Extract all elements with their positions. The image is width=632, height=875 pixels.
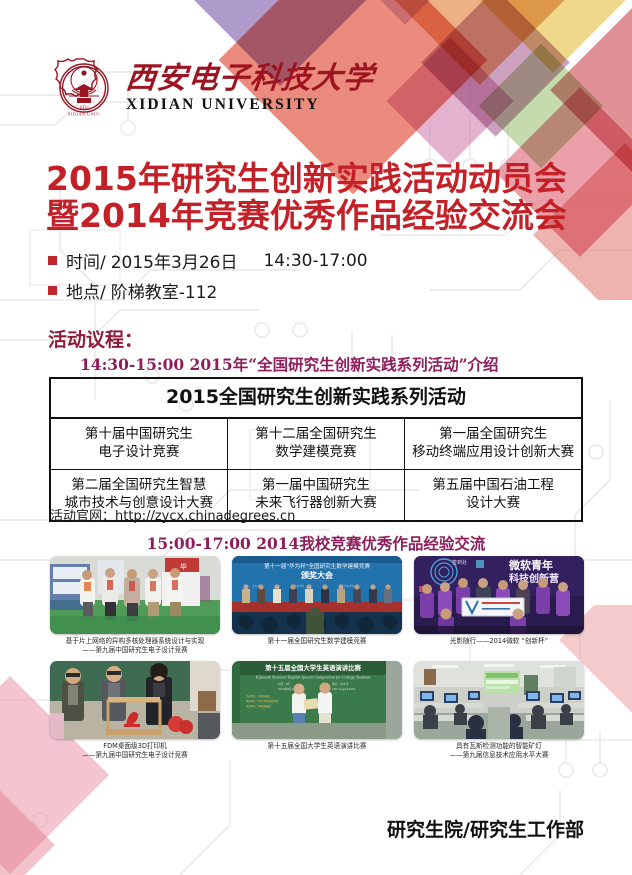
competition-cell: 第五届中国石油工程 设计大赛 [405,470,582,522]
title-line-1: 2015年研究生创新实践活动动员会 [46,160,626,197]
photo-item: 第十五届全国大学生英语演讲比赛 Fifteenth National Engli… [232,661,402,761]
photo-row-1: 毕 [50,556,584,656]
competition-table: 2015全国研究生创新实践系列活动 第十届中国研究生 电子设计竞赛 第十二届全国… [49,377,583,522]
photo-item: 具有瓦斯检测功能的智能矿灯 ——第九届信息技术应用水平大赛 [414,661,584,761]
photo-caption: 第十一届全国研究生数学建模竞赛 [232,637,402,646]
event-time-row: 时间/ 2015年3月26日 14:30-17:00 [48,248,368,273]
university-name-en: XIDIAN UNIVERSITY [126,97,374,113]
agenda-heading: 活动议程： [48,325,143,352]
photo-3d-printer-image[interactable] [50,661,220,739]
photo-electronic-design-image[interactable]: 毕 [50,556,220,634]
event-place-row: 地点/ 阶梯教室-112 [48,278,368,303]
svg-text:XIDIAN UNIV.: XIDIAN UNIV. [67,111,100,116]
bullet-square-icon [48,286,57,295]
svg-text:14th August 2014: 14th August 2014 [332,687,356,691]
photo-microsoft-imagine-cup-image[interactable]: 签到处 微软青年 科技创新营 [414,556,584,634]
svg-text:时间：8月: 时间：8月 [278,682,290,686]
competition-cell: 第十二届全国研究生 数学建模竞赛 [227,418,404,470]
time-label: 时间/ [66,248,106,273]
photo-smart-miner-lamp-image[interactable] [414,661,584,739]
photo-item: 毕 [50,556,220,656]
official-website: 活动官网：http://zycx.chinadegrees.cn [50,505,295,524]
svg-text:科技创新营: 科技创新营 [509,572,559,585]
svg-text:毕: 毕 [180,562,187,571]
svg-text:主办单位：中国日报社: 主办单位：中国日报社 [246,694,271,698]
photo-caption: FDM桌面级3D打印机 ——第九届中国研究生电子设计竞赛 [50,742,220,761]
svg-text:颁奖大会: 颁奖大会 [301,570,333,580]
svg-text:协办单位: 协办单位 [344,584,355,588]
photo-caption: 基于片上网络的异构多核处理器系统设计与实现 ——第九届中国研究生电子设计竞赛 [50,637,220,656]
svg-text:协办单位：XX教育集团: 协办单位：XX教育集团 [246,704,271,708]
svg-text:微软青年: 微软青年 [508,558,553,572]
svg-text:第十一届"华为杯"全国研究生数学建模竞赛: 第十一届"华为杯"全国研究生数学建模竞赛 [264,562,370,570]
poster-canvas: 1931 XIDIAN UNIV. 西安电子科技大学 XIDIAN UNIVER… [0,0,632,875]
poster-title: 2015年研究生创新实践活动动员会 暨2014年竞赛优秀作品经验交流会 [46,160,626,235]
university-logo: 1931 XIDIAN UNIV. 西安电子科技大学 XIDIAN UNIVER… [52,56,374,120]
agenda-item-1: 14:30-15:00 2015年“全国研究生创新实践系列活动”介绍 [80,353,499,375]
table-header-cell: 2015全国研究生创新实践系列活动 [50,378,582,418]
svg-text:承办单位：XX大学外国语学院: 承办单位：XX大学外国语学院 [246,699,279,703]
photo-caption: 光影随行——2014微软 “创新杯” [414,637,584,646]
agenda-item-2: 15:00-17:00 2014我校竞赛优秀作品经验交流 [0,532,632,554]
bullet-square-icon [48,256,57,265]
competition-cell: 第十届中国研究生 电子设计竞赛 [50,418,227,470]
website-url[interactable]: http://zycx.chinadegrees.cn [115,509,295,524]
table-header-row: 2015全国研究生创新实践系列活动 [50,378,582,418]
photo-math-modeling-image[interactable]: 第十一届"华为杯"全国研究生数学建模竞赛 颁奖大会 主办单位承办单位 协办单位 [232,556,402,634]
table-row: 第十届中国研究生 电子设计竞赛 第十二届全国研究生 数学建模竞赛 第一届全国研究… [50,418,582,470]
photo-item: 签到处 微软青年 科技创新营 [414,556,584,656]
photo-english-speech-image[interactable]: 第十五届全国大学生英语演讲比赛 Fifteenth National Engli… [232,661,402,739]
photo-row-2: FDM桌面级3D打印机 ——第九届中国研究生电子设计竞赛 第十五届全国大学生英语… [50,661,584,761]
title-line-2: 暨2014年竞赛优秀作品经验交流会 [46,197,626,234]
place-label: 地点/ [66,278,106,303]
svg-text:第十五届全国大学生英语演讲比赛: 第十五届全国大学生英语演讲比赛 [265,663,361,672]
photo-caption: 具有瓦斯检测功能的智能矿灯 ——第九届信息技术应用水平大赛 [414,742,584,761]
svg-text:承办单位: 承办单位 [294,584,305,588]
photo-item: 第十一届"华为杯"全国研究生数学建模竞赛 颁奖大会 主办单位承办单位 协办单位 [232,556,402,656]
photo-caption: 第十五届全国大学生英语演讲比赛 [232,742,402,751]
photo-gallery: 毕 [50,556,584,765]
time-date: 2015年3月26日 [111,248,238,273]
competition-cell: 第一届全国研究生 移动终端应用设计创新大赛 [405,418,582,470]
event-meta: 时间/ 2015年3月26日 14:30-17:00 地点/ 阶梯教室-112 [48,248,368,308]
time-range: 14:30-17:00 [263,251,367,271]
place-value: 阶梯教室-112 [111,278,218,303]
svg-text:签到处: 签到处 [452,559,467,566]
university-name-cn: 西安电子科技大学 [124,64,375,94]
svg-text:Fifteenth National English Spe: Fifteenth National English Speech Compet… [255,674,371,679]
svg-text:地点：XX大学: 地点：XX大学 [332,682,349,686]
website-label: 活动官网： [50,509,115,524]
svg-text:1931: 1931 [79,105,90,111]
xidian-crest-icon: 1931 XIDIAN UNIV. [52,56,116,120]
organizer-footer: 研究生院/研究生工作部 [387,815,584,842]
photo-item: FDM桌面级3D打印机 ——第九届中国研究生电子设计竞赛 [50,661,220,761]
